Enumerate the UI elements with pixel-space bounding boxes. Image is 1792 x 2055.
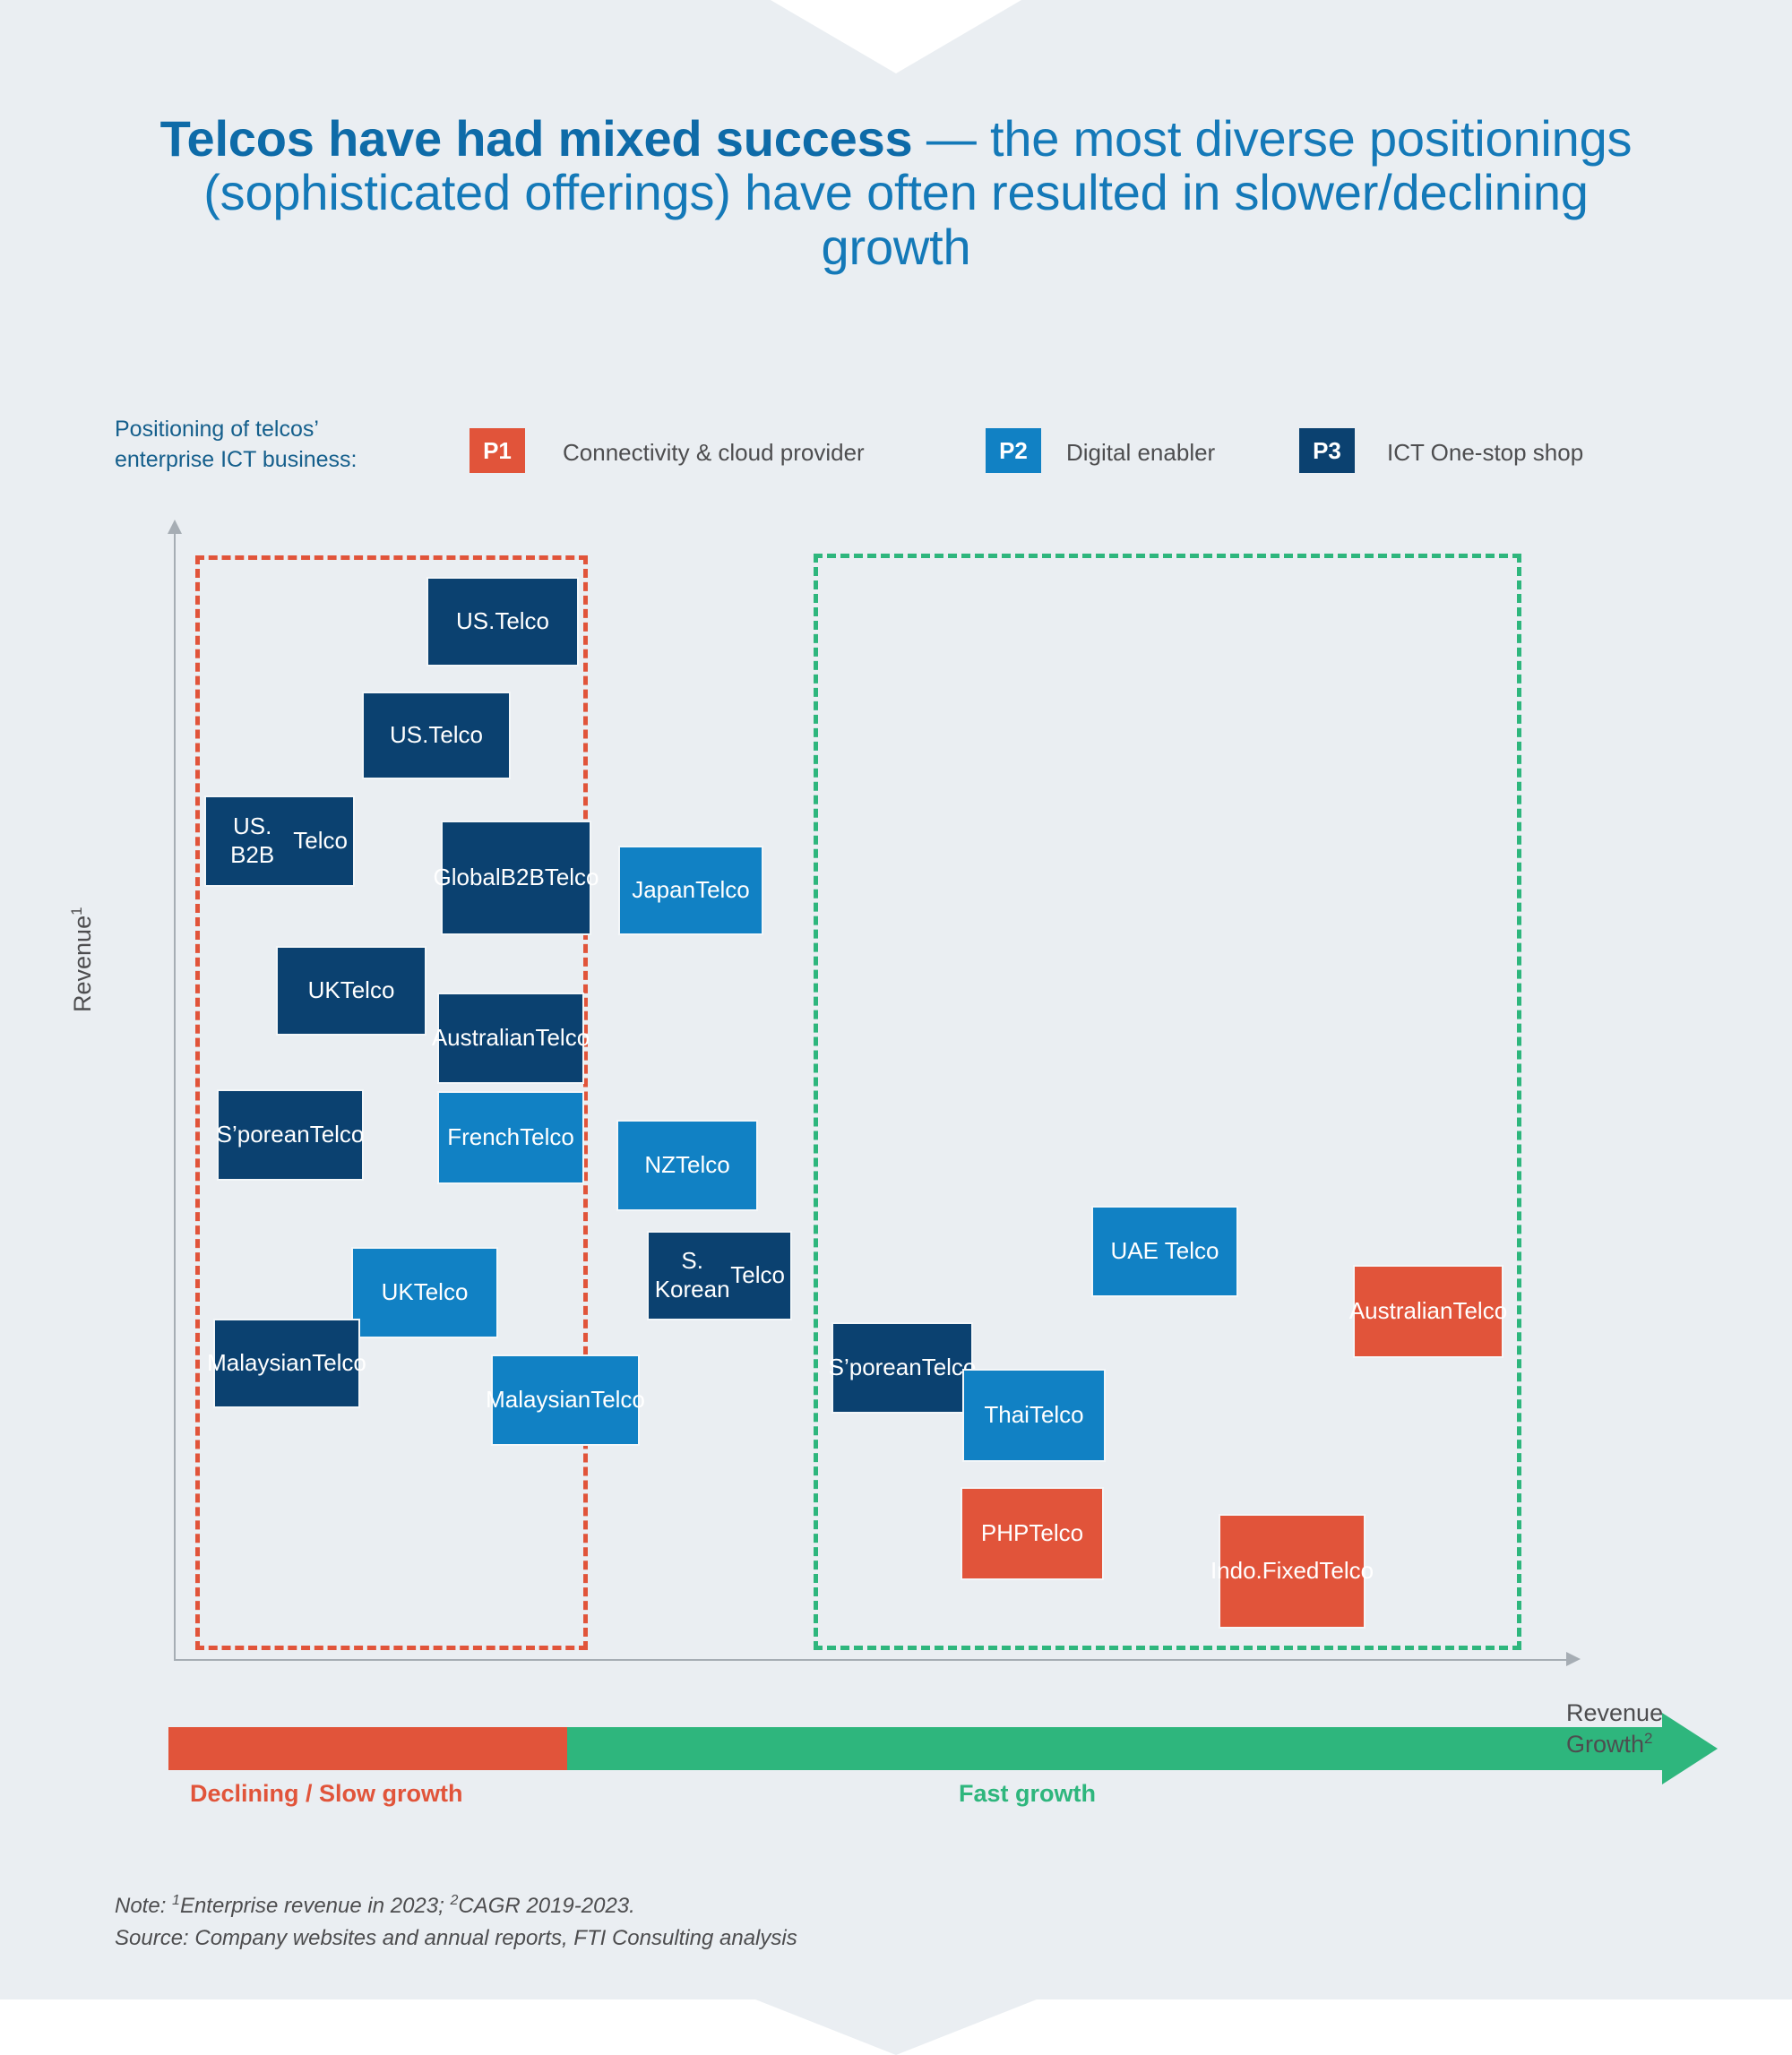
y-axis-label: Revenue1: [68, 907, 97, 1012]
telco-box-label-line: Telco: [1030, 1401, 1084, 1430]
telco-box-label-line: Telco: [293, 827, 348, 856]
telco-box-label-line: Australian: [432, 1024, 536, 1053]
telco-box[interactable]: FrenchTelco: [437, 1091, 584, 1184]
telco-box-label-line: Telco: [340, 976, 395, 1005]
footnote-sup-1: 1: [172, 1893, 180, 1908]
y-axis-label-text: Revenue: [69, 916, 96, 1012]
growth-bar-fast-segment: [567, 1727, 1662, 1770]
x-axis-label-line2: Growth: [1566, 1731, 1644, 1758]
telco-box-label-line: Telco: [428, 721, 483, 750]
telco-box[interactable]: UKTelco: [276, 946, 426, 1036]
x-axis-label-line1: Revenue: [1566, 1699, 1663, 1726]
footnote-note-mid: Enterprise revenue in 2023;: [180, 1894, 451, 1918]
telco-box-label-line: Telco: [545, 864, 599, 892]
x-axis-label-superscript: 2: [1644, 1730, 1652, 1747]
telco-box-label-line: US.: [390, 721, 428, 750]
telco-box-label-line: Malaysian: [207, 1349, 312, 1378]
top-chevron-decoration: [771, 0, 1021, 73]
telco-box-label-line: Malaysian: [486, 1386, 590, 1414]
telco-box-label-line: Indo.: [1210, 1557, 1262, 1586]
y-axis-label-superscript: 1: [68, 907, 85, 915]
footnote-source: Source: Company websites and annual repo…: [115, 1922, 797, 1955]
telco-box[interactable]: JapanTelco: [618, 846, 763, 935]
telco-box-label-line: Telco: [414, 1278, 469, 1307]
telco-box[interactable]: MalaysianTelco: [491, 1354, 640, 1446]
telco-box-label-line: UAE Telco: [1111, 1237, 1219, 1266]
telco-box[interactable]: NZTelco: [616, 1120, 758, 1211]
y-axis-line: [174, 530, 176, 1661]
bottom-chevron-decoration: [0, 1969, 1792, 2055]
telco-box[interactable]: S. KoreanTelco: [647, 1231, 792, 1320]
telco-box-label-line: S’porean: [829, 1354, 922, 1382]
legend-label-p1: Connectivity & cloud provider: [563, 439, 865, 467]
y-axis-arrow-icon: [168, 520, 182, 534]
legend-caption: Positioning of telcos’ enterprise ICT bu…: [115, 414, 410, 475]
telco-box[interactable]: UKTelco: [351, 1247, 498, 1338]
growth-bar-declining-segment: [168, 1727, 567, 1770]
page-title-bold: Telcos have had mixed success: [160, 110, 913, 167]
x-axis-line: [174, 1659, 1568, 1661]
telco-box-label-line: Telco: [310, 1121, 365, 1149]
telco-box[interactable]: MalaysianTelco: [213, 1319, 360, 1408]
legend-chip-p1[interactable]: P1: [470, 428, 525, 473]
telco-box-label-line: Telco: [495, 607, 549, 636]
fast-growth-label: Fast growth: [959, 1780, 1096, 1808]
telco-box[interactable]: US.Telco: [362, 692, 511, 779]
telco-box-label-line: Telco: [590, 1386, 645, 1414]
x-axis-arrow-icon: [1566, 1652, 1581, 1666]
telco-box-label-line: Global: [434, 864, 501, 892]
legend-chip-p3[interactable]: P3: [1299, 428, 1355, 473]
footnote-note: Note: 1Enterprise revenue in 2023; 2CAGR…: [115, 1890, 797, 1922]
telco-box-label-line: Telco: [730, 1261, 785, 1290]
x-axis-label: Revenue Growth2: [1566, 1698, 1663, 1760]
telco-box-label-line: Japan: [632, 876, 695, 905]
telco-box-label-line: Telco: [520, 1123, 574, 1152]
telco-box[interactable]: US.Telco: [426, 577, 579, 666]
declining-growth-label: Declining / Slow growth: [190, 1780, 463, 1808]
telco-box[interactable]: S’poreanTelco: [217, 1089, 364, 1181]
telco-box-label-line: Fixed: [1262, 1557, 1320, 1586]
telco-box-label-line: PHP: [981, 1519, 1029, 1548]
telco-box-label-line: Telco: [922, 1354, 977, 1382]
telco-box[interactable]: S’poreanTelco: [831, 1322, 973, 1414]
telco-box[interactable]: AustralianTelco: [1353, 1265, 1503, 1358]
telco-box-label-line: S’porean: [217, 1121, 310, 1149]
telco-box[interactable]: GlobalB2BTelco: [441, 821, 591, 935]
telco-box-label-line: Telco: [1029, 1519, 1083, 1548]
page-title: Telcos have had mixed success — the most…: [134, 112, 1658, 274]
telco-box-label-line: Telco: [676, 1151, 730, 1180]
fast-growth-zone: [814, 554, 1521, 1650]
legend-chip-p2[interactable]: P2: [986, 428, 1041, 473]
telco-box-label-line: NZ: [644, 1151, 676, 1180]
telco-box-label-line: Telco: [1452, 1297, 1507, 1326]
telco-box[interactable]: US. B2BTelco: [204, 795, 355, 887]
telco-box-label-line: UK: [382, 1278, 414, 1307]
footnote-note-end: CAGR 2019-2023.: [458, 1894, 634, 1918]
declining-growth-zone: [195, 555, 588, 1650]
footnote-note-prefix: Note:: [115, 1894, 172, 1918]
telco-box[interactable]: AustralianTelco: [437, 993, 584, 1084]
telco-box-label-line: US. B2B: [211, 813, 293, 869]
telco-box-label-line: Telco: [695, 876, 750, 905]
telco-box-label-line: French: [447, 1123, 520, 1152]
telco-box-label-line: UK: [308, 976, 340, 1005]
telco-box-label-line: Thai: [984, 1401, 1030, 1430]
telco-box-label-line: Telco: [535, 1024, 590, 1053]
footnote-block: Note: 1Enterprise revenue in 2023; 2CAGR…: [115, 1890, 797, 1955]
telco-box-label-line: B2B: [501, 864, 545, 892]
telco-box-label-line: Telco: [1319, 1557, 1374, 1586]
legend-label-p2: Digital enabler: [1066, 439, 1215, 467]
growth-bar-arrow-icon: [1662, 1713, 1718, 1784]
telco-box[interactable]: PHPTelco: [961, 1487, 1104, 1580]
telco-box-label-line: S. Korean: [654, 1247, 730, 1303]
telco-box[interactable]: ThaiTelco: [962, 1369, 1106, 1462]
telco-box-label-line: US.: [456, 607, 495, 636]
legend-label-p3: ICT One-stop shop: [1387, 439, 1583, 467]
telco-box-label-line: Australian: [1349, 1297, 1453, 1326]
telco-box[interactable]: UAE Telco: [1091, 1206, 1238, 1297]
telco-box-label-line: Telco: [312, 1349, 366, 1378]
telco-box[interactable]: Indo.FixedTelco: [1219, 1514, 1366, 1629]
